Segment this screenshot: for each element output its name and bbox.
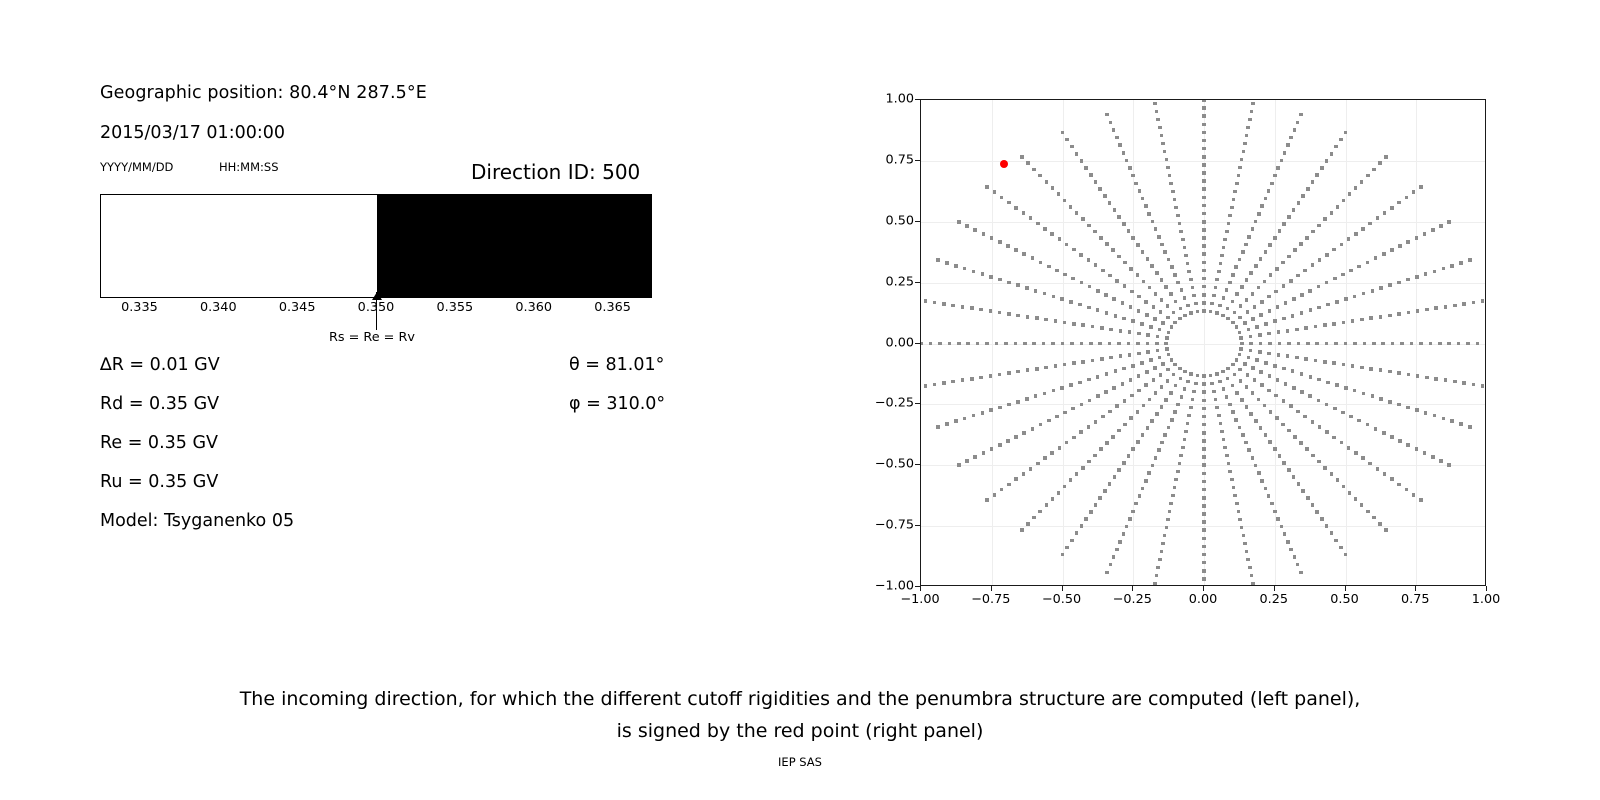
direction-point xyxy=(1339,138,1343,142)
direction-point xyxy=(1202,431,1206,435)
direction-point xyxy=(1234,265,1238,269)
direction-point xyxy=(1226,377,1230,381)
direction-point xyxy=(1160,278,1164,282)
direction-point xyxy=(1407,373,1411,377)
direction-point xyxy=(1022,252,1026,256)
direction-point xyxy=(1131,447,1135,451)
direction-point xyxy=(1291,314,1295,318)
direction-point xyxy=(1379,397,1383,401)
direction-point xyxy=(972,270,976,274)
direction-point xyxy=(1140,322,1144,326)
direction-point xyxy=(1156,349,1160,353)
direction-point xyxy=(1268,342,1272,346)
direction-point xyxy=(998,240,1002,244)
direction-point xyxy=(1167,353,1171,357)
direction-point xyxy=(1108,410,1112,414)
direction-point xyxy=(1178,367,1182,371)
direction-point xyxy=(998,443,1002,447)
direction-point xyxy=(1434,377,1438,381)
direction-point xyxy=(1029,467,1033,471)
direction-point xyxy=(1257,212,1261,216)
direction-point xyxy=(1202,447,1206,451)
direction-point xyxy=(1245,550,1249,554)
direction-point xyxy=(1222,246,1226,250)
direction-point xyxy=(1170,418,1174,422)
direction-point xyxy=(1153,582,1157,586)
direction-point xyxy=(1212,390,1216,394)
direction-point xyxy=(1202,131,1206,135)
sky-ytick-label: −0.25 xyxy=(875,396,914,411)
direction-point xyxy=(1153,102,1157,106)
direction-point xyxy=(1246,126,1250,130)
direction-point xyxy=(1115,136,1119,140)
direction-point xyxy=(1146,350,1150,354)
direction-point xyxy=(1438,342,1442,346)
direction-point xyxy=(1481,299,1485,303)
direction-point xyxy=(1189,311,1193,315)
direction-point xyxy=(920,342,923,346)
direction-point xyxy=(1318,425,1322,429)
direction-point xyxy=(1415,236,1419,240)
direction-point xyxy=(954,264,958,268)
direction-point xyxy=(957,463,961,467)
direction-point xyxy=(1137,332,1141,336)
direction-point xyxy=(1063,199,1067,203)
direction-point xyxy=(1115,548,1119,552)
direction-point xyxy=(1183,438,1187,442)
direction-point xyxy=(1462,302,1466,306)
direction-point xyxy=(1296,410,1300,414)
direction-point xyxy=(1238,518,1242,522)
direction-point xyxy=(1202,561,1206,565)
direction-point xyxy=(1202,577,1206,581)
direction-point xyxy=(1108,342,1112,346)
gridline-vertical xyxy=(992,100,993,585)
direction-point xyxy=(1376,467,1380,471)
direction-point xyxy=(1243,321,1247,325)
direction-point xyxy=(1314,359,1318,363)
direction-point xyxy=(998,373,1002,377)
direction-point xyxy=(1347,446,1351,450)
direction-point xyxy=(1311,263,1315,267)
direction-point xyxy=(1058,237,1062,241)
direction-point xyxy=(1035,316,1039,320)
direction-point xyxy=(1196,374,1200,378)
direction-point xyxy=(1178,462,1182,466)
direction-point xyxy=(1202,196,1206,200)
direction-point xyxy=(1264,197,1268,201)
direction-point xyxy=(1374,256,1378,260)
direction-point xyxy=(1165,526,1169,530)
direction-point xyxy=(1476,342,1480,346)
sky-xtick-label: 0.50 xyxy=(1330,592,1359,607)
direction-point xyxy=(1202,114,1206,118)
direction-point xyxy=(1063,273,1067,277)
direction-point xyxy=(989,275,993,279)
direction-point xyxy=(929,342,933,346)
direction-point xyxy=(1025,286,1029,290)
direction-point xyxy=(1014,477,1018,481)
direction-point xyxy=(1038,174,1042,178)
direction-point xyxy=(1238,368,1242,372)
direction-point xyxy=(1254,464,1258,468)
direction-point xyxy=(1254,264,1258,268)
direction-point xyxy=(1080,524,1084,528)
direction-point xyxy=(1267,189,1271,193)
direction-point xyxy=(1202,139,1206,143)
direction-point xyxy=(957,342,961,346)
direction-point xyxy=(1444,378,1448,382)
direction-point xyxy=(1160,298,1164,302)
direction-point xyxy=(1044,318,1048,322)
direction-point xyxy=(1084,517,1088,521)
direction-point xyxy=(1089,173,1093,177)
direction-point xyxy=(989,374,993,378)
direction-point xyxy=(1376,216,1380,220)
direction-point xyxy=(1286,329,1290,333)
sky-xtick-mark xyxy=(1274,586,1275,591)
direction-point xyxy=(1174,206,1178,210)
direction-point xyxy=(1384,155,1388,159)
direction-point xyxy=(1416,374,1420,378)
direction-point xyxy=(1243,362,1247,366)
direction-point xyxy=(1161,321,1165,325)
direction-point xyxy=(1137,389,1141,393)
direction-point xyxy=(970,377,974,381)
direction-point xyxy=(1164,285,1168,289)
direction-point xyxy=(1202,415,1206,419)
direction-point xyxy=(1189,278,1193,282)
direction-point xyxy=(1070,342,1074,346)
direction-point xyxy=(1014,342,1018,346)
direction-point xyxy=(1166,166,1170,170)
direction-point xyxy=(1353,389,1357,393)
direction-point xyxy=(1260,383,1264,387)
direction-point xyxy=(1178,317,1182,321)
direction-point xyxy=(1237,174,1241,178)
direction-point xyxy=(1105,242,1109,246)
direction-point xyxy=(957,220,961,224)
direction-point xyxy=(1233,373,1237,377)
penumbra-xtick-label: 0.345 xyxy=(279,300,316,315)
direction-point xyxy=(1007,312,1011,316)
direction-point xyxy=(1354,451,1358,455)
direction-point xyxy=(1368,222,1372,226)
direction-point xyxy=(1311,454,1315,458)
direction-point xyxy=(973,455,977,459)
direction-point xyxy=(1340,243,1344,247)
direction-point xyxy=(1238,166,1242,170)
direction-point xyxy=(1187,414,1191,418)
direction-point xyxy=(985,185,989,189)
direction-point xyxy=(1063,485,1067,489)
direction-point xyxy=(1202,382,1206,386)
direction-point xyxy=(1276,166,1280,170)
direction-point xyxy=(1306,187,1310,191)
selected-direction-point[interactable] xyxy=(1000,160,1008,168)
direction-point xyxy=(1450,264,1454,268)
direction-point xyxy=(981,411,985,415)
direction-point xyxy=(1117,255,1121,259)
direction-point xyxy=(1251,317,1255,321)
direction-point xyxy=(1371,394,1375,398)
direction-point xyxy=(1325,524,1329,528)
direction-point xyxy=(1259,342,1263,346)
direction-point xyxy=(1189,406,1193,410)
direction-point xyxy=(1258,333,1262,337)
sky-ytick-label: −0.75 xyxy=(875,518,914,533)
direction-point xyxy=(1146,333,1150,337)
direction-point xyxy=(1186,304,1190,308)
direction-point xyxy=(1045,180,1049,184)
direction-point xyxy=(1390,435,1394,439)
direction-point xyxy=(1168,174,1172,178)
direction-point xyxy=(1419,498,1423,502)
direction-point xyxy=(1235,358,1239,362)
direction-point xyxy=(1202,569,1206,573)
direction-point xyxy=(1122,151,1126,155)
direction-point xyxy=(1238,426,1242,430)
direction-point xyxy=(1391,342,1395,346)
direction-point xyxy=(1189,372,1193,376)
direction-point xyxy=(1034,394,1038,398)
direction-point xyxy=(1105,571,1109,575)
direction-point xyxy=(1032,168,1036,172)
direction-point xyxy=(1334,539,1338,543)
direction-point xyxy=(1214,286,1218,290)
direction-point xyxy=(1103,489,1107,493)
direction-point xyxy=(1233,311,1237,315)
direction-point xyxy=(1202,528,1206,532)
direction-point xyxy=(1145,370,1149,374)
direction-point xyxy=(1243,142,1247,146)
direction-point xyxy=(961,305,965,309)
direction-point xyxy=(1160,405,1164,409)
direction-point xyxy=(1163,250,1167,254)
direction-point xyxy=(1306,342,1310,346)
direction-point xyxy=(1299,441,1303,445)
direction-point xyxy=(1424,411,1428,415)
direction-point xyxy=(1173,363,1177,367)
direction-point xyxy=(1043,392,1047,396)
direction-point xyxy=(1202,480,1206,484)
direction-point xyxy=(1320,517,1324,521)
direction-point xyxy=(1254,419,1258,423)
direction-point xyxy=(1317,306,1321,310)
gridline-vertical xyxy=(1416,100,1417,585)
direction-point xyxy=(1231,321,1235,325)
direction-point xyxy=(1202,252,1206,256)
direction-point xyxy=(1026,161,1030,165)
direction-point xyxy=(1325,430,1329,434)
direction-point xyxy=(924,299,928,303)
direction-point xyxy=(1144,204,1148,208)
direction-point xyxy=(1286,540,1290,544)
direction-point xyxy=(1276,517,1280,521)
direction-point xyxy=(1349,269,1353,273)
direction-point xyxy=(1304,326,1308,330)
direction-point xyxy=(1232,198,1236,202)
direction-point xyxy=(1105,372,1109,376)
direction-point xyxy=(1336,205,1340,209)
direction-point xyxy=(1309,375,1313,379)
direction-point xyxy=(1087,378,1091,382)
direction-point xyxy=(1280,525,1284,529)
direction-point xyxy=(1167,258,1171,262)
direction-point xyxy=(990,447,994,451)
param-rd: Rd = 0.35 GV xyxy=(100,394,219,414)
sky-ytick-label: 0.75 xyxy=(886,152,915,167)
direction-point xyxy=(1136,410,1140,414)
direction-point xyxy=(1287,468,1291,472)
direction-point xyxy=(1348,192,1352,196)
direction-point xyxy=(1334,342,1338,346)
direction-point xyxy=(1259,313,1263,317)
direction-point xyxy=(1158,126,1162,130)
direction-point xyxy=(1415,447,1419,451)
direction-point xyxy=(1144,383,1148,387)
direction-point xyxy=(1222,438,1226,442)
direction-point xyxy=(1174,478,1178,482)
direction-point xyxy=(1254,220,1258,224)
direction-point xyxy=(1109,328,1113,332)
direction-point xyxy=(1202,439,1206,443)
direction-point xyxy=(1330,211,1334,215)
direction-point xyxy=(1075,152,1079,156)
direction-point xyxy=(1244,243,1248,247)
direction-point xyxy=(1202,228,1206,232)
direction-point xyxy=(1323,360,1327,364)
direction-point xyxy=(1231,363,1235,367)
direction-point xyxy=(1156,118,1160,122)
direction-point xyxy=(1309,308,1313,312)
direction-point xyxy=(1136,440,1140,444)
direction-point xyxy=(976,342,980,346)
direction-point xyxy=(1194,302,1198,306)
direction-point xyxy=(1286,143,1290,147)
direction-point xyxy=(1150,419,1154,423)
direction-point xyxy=(1407,311,1411,315)
direction-point xyxy=(1258,350,1262,354)
direction-point xyxy=(1287,429,1291,433)
direction-point xyxy=(1240,526,1244,530)
direction-point xyxy=(1240,342,1244,346)
direction-point xyxy=(995,342,999,346)
direction-point xyxy=(1287,255,1291,259)
direction-point xyxy=(1269,273,1273,277)
direction-point xyxy=(1296,563,1300,567)
direction-point xyxy=(1296,274,1300,278)
direction-point xyxy=(1300,372,1304,376)
direction-point xyxy=(1148,286,1152,290)
direction-point xyxy=(1390,206,1394,210)
direction-point xyxy=(1154,456,1158,460)
sky-xtick-mark xyxy=(1203,586,1204,591)
direction-point xyxy=(1249,335,1253,339)
direction-point xyxy=(1459,422,1463,426)
direction-point xyxy=(1202,244,1206,248)
direction-point xyxy=(1043,292,1047,296)
direction-point xyxy=(1388,400,1392,404)
sky-xtick-label: 0.75 xyxy=(1401,592,1430,607)
direction-point xyxy=(1026,522,1030,526)
sky-ytick-mark xyxy=(915,282,920,283)
direction-point xyxy=(1176,281,1180,285)
direction-point xyxy=(1270,182,1274,186)
direction-point xyxy=(1318,258,1322,262)
direction-point xyxy=(1089,510,1093,514)
direction-point xyxy=(1183,296,1187,300)
direction-point xyxy=(1114,314,1118,318)
direction-point xyxy=(1228,281,1232,285)
direction-point xyxy=(1118,143,1122,147)
direction-point xyxy=(1096,375,1100,379)
direction-point xyxy=(1163,433,1167,437)
direction-point xyxy=(1100,326,1104,330)
direction-point xyxy=(1170,358,1174,362)
direction-point xyxy=(1255,325,1259,329)
direction-point xyxy=(1065,243,1069,247)
direction-point xyxy=(1166,379,1170,383)
direction-point xyxy=(1020,155,1024,159)
direction-point xyxy=(1397,371,1401,375)
direction-point xyxy=(1212,294,1216,298)
direction-point xyxy=(1257,471,1261,475)
direction-point xyxy=(1221,370,1225,374)
direction-point xyxy=(1243,542,1247,546)
direction-point xyxy=(1183,314,1187,318)
direction-point xyxy=(1119,329,1123,333)
direction-point xyxy=(1289,136,1293,140)
direction-point xyxy=(1423,232,1427,236)
direction-point xyxy=(965,224,969,228)
direction-point xyxy=(1078,381,1082,385)
direction-point xyxy=(1183,370,1187,374)
direction-point xyxy=(1276,305,1280,309)
direction-point xyxy=(1293,435,1297,439)
direction-point xyxy=(1379,286,1383,290)
direction-point xyxy=(1225,454,1229,458)
sky-xtick-label: 0.25 xyxy=(1260,592,1289,607)
direction-point xyxy=(1202,155,1206,159)
direction-point xyxy=(1052,295,1056,299)
direction-point xyxy=(1369,316,1373,320)
direction-point xyxy=(1388,370,1392,374)
direction-point xyxy=(1259,257,1263,261)
direction-point xyxy=(1442,267,1446,271)
direction-point xyxy=(1250,110,1254,114)
direction-point xyxy=(1023,342,1027,346)
direction-point xyxy=(1390,477,1394,481)
direction-point xyxy=(1166,368,1170,372)
direction-point xyxy=(1072,322,1076,326)
direction-point xyxy=(1281,423,1285,427)
direction-point xyxy=(1155,271,1159,275)
direction-point xyxy=(1153,366,1157,370)
direction-point xyxy=(1079,253,1083,257)
direction-point xyxy=(1075,472,1079,476)
direction-point xyxy=(1121,382,1125,386)
direction-point xyxy=(1109,356,1113,360)
direction-point xyxy=(1366,423,1370,427)
direction-point xyxy=(1117,215,1121,219)
direction-point xyxy=(1123,284,1127,288)
direction-point xyxy=(1101,415,1105,419)
direction-point xyxy=(1335,300,1339,304)
direction-point xyxy=(1439,459,1443,463)
direction-point xyxy=(1141,487,1145,491)
direction-point xyxy=(1075,211,1079,215)
